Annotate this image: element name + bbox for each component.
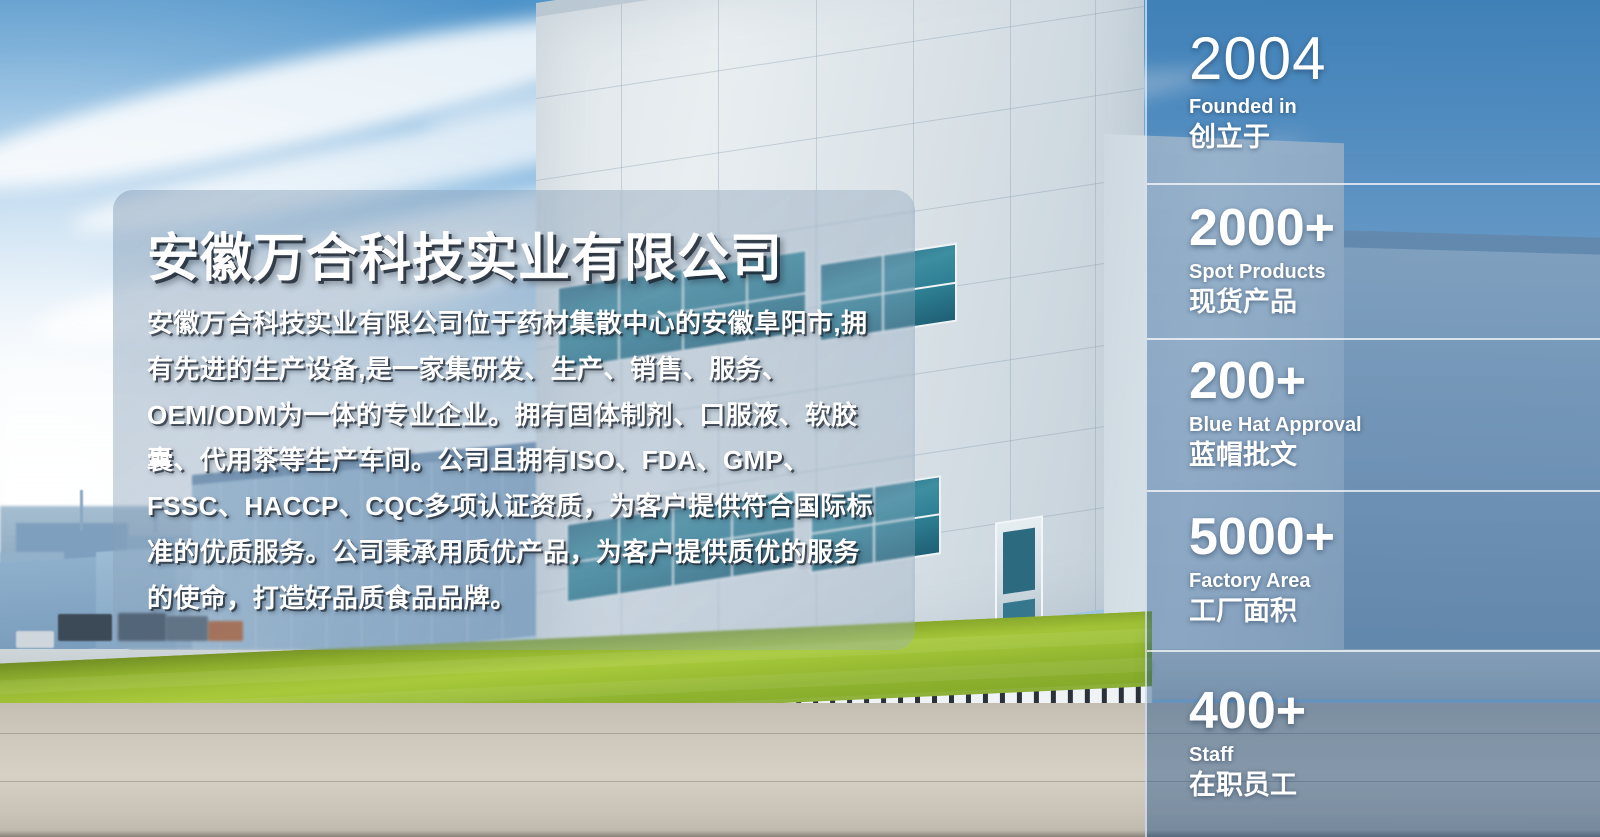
- stat-item-staff: 400+ Staff 在职员工: [1147, 650, 1600, 837]
- stat-item-spot-products: 2000+ Spot Products 现货产品: [1147, 183, 1600, 338]
- stat-label-en: Founded in: [1189, 95, 1600, 119]
- parked-truck: [58, 614, 112, 641]
- stat-value: 2004: [1189, 29, 1600, 89]
- stat-value: 5000+: [1189, 511, 1600, 563]
- utility-pole: [80, 490, 83, 532]
- parked-car: [16, 631, 54, 648]
- stat-item-factory-area: 5000+ Factory Area 工厂面积: [1147, 490, 1600, 650]
- stat-label-cn: 现货产品: [1189, 286, 1600, 320]
- company-title: 安徽万合科技实业有限公司: [147, 216, 881, 291]
- company-description: 安徽万合科技实业有限公司位于药材集散中心的安徽阜阳市,拥有先进的生产设备,是一家…: [147, 301, 881, 621]
- stat-label-en: Spot Products: [1189, 260, 1600, 284]
- stat-label-cn: 蓝帽批文: [1189, 439, 1600, 473]
- stat-value: 400+: [1189, 685, 1600, 737]
- stat-value: 200+: [1189, 355, 1600, 407]
- stat-value: 2000+: [1189, 202, 1600, 254]
- stat-label-cn: 在职员工: [1189, 769, 1600, 803]
- stat-label-cn: 工厂面积: [1189, 595, 1600, 629]
- stat-item-founded: 2004 Founded in 创立于: [1147, 0, 1600, 183]
- stat-label-en: Staff: [1189, 743, 1600, 767]
- statistics-sidebar: 2004 Founded in 创立于 2000+ Spot Products …: [1145, 0, 1600, 837]
- stat-label-en: Blue Hat Approval: [1189, 413, 1600, 437]
- company-info-panel: 安徽万合科技实业有限公司 安徽万合科技实业有限公司位于药材集散中心的安徽阜阳市,…: [113, 190, 915, 650]
- stat-item-blue-hat-approval: 200+ Blue Hat Approval 蓝帽批文: [1147, 338, 1600, 490]
- stat-label-en: Factory Area: [1189, 569, 1600, 593]
- stat-label-cn: 创立于: [1189, 121, 1600, 155]
- company-profile-banner: 安徽万合科技实业有限公司 安徽万合科技实业有限公司位于药材集散中心的安徽阜阳市,…: [0, 0, 1600, 837]
